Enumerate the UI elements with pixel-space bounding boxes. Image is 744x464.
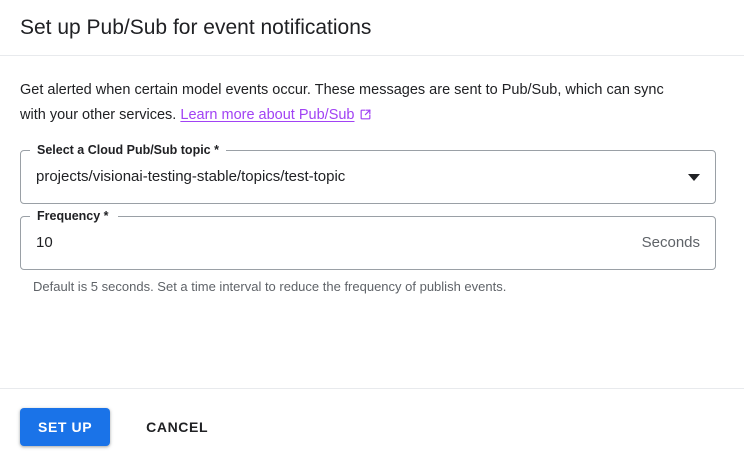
pubsub-setup-dialog: Set up Pub/Sub for event notifications G… xyxy=(0,0,744,464)
pubsub-topic-content: projects/visionai-testing-stable/topics/… xyxy=(20,150,716,204)
frequency-value[interactable]: 10 xyxy=(36,233,634,253)
frequency-content: 10 Seconds xyxy=(20,216,716,270)
pubsub-topic-value: projects/visionai-testing-stable/topics/… xyxy=(36,167,680,187)
dialog-body: Get alerted when certain model events oc… xyxy=(0,56,744,388)
description-text: Get alerted when certain model events oc… xyxy=(20,78,692,128)
dropdown-arrow-icon[interactable] xyxy=(688,174,700,181)
cancel-button[interactable]: CANCEL xyxy=(128,408,226,446)
frequency-input[interactable]: Frequency * 10 Seconds xyxy=(20,216,716,270)
page-title: Set up Pub/Sub for event notifications xyxy=(20,14,371,42)
dialog-footer: SET UP CANCEL xyxy=(0,388,744,464)
learn-more-link[interactable]: Learn more about Pub/Sub xyxy=(180,107,354,123)
frequency-hint: Default is 5 seconds. Set a time interva… xyxy=(20,278,724,296)
learn-more-label: Learn more about Pub/Sub xyxy=(180,107,354,123)
dialog-header: Set up Pub/Sub for event notifications xyxy=(0,0,744,56)
set-up-button[interactable]: SET UP xyxy=(20,408,110,446)
frequency-unit-suffix: Seconds xyxy=(634,233,700,253)
pubsub-topic-select[interactable]: Select a Cloud Pub/Sub topic * projects/… xyxy=(20,150,716,204)
open-in-new-icon xyxy=(359,108,372,121)
